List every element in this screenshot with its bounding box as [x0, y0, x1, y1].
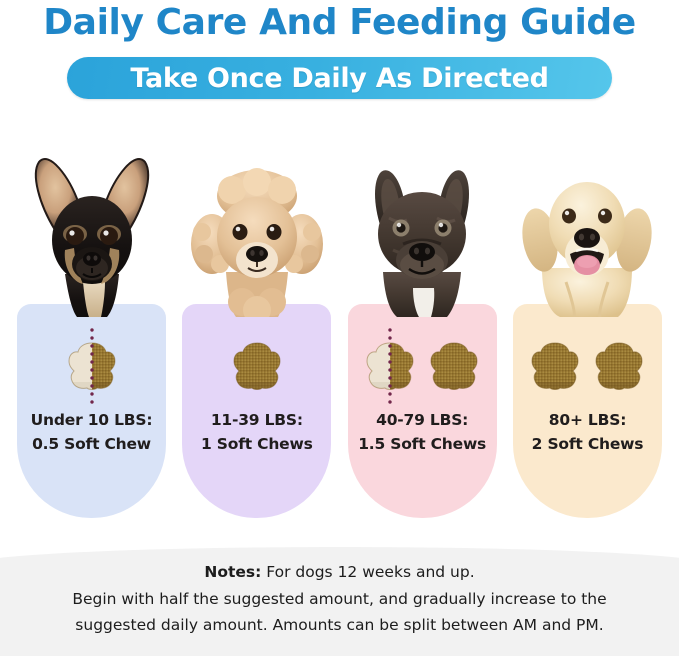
- dosage-column-under-10: Under 10 LBS: 0.5 Soft Chew: [14, 132, 169, 532]
- directions-banner-label: Take Once Daily As Directed: [130, 63, 548, 94]
- feeding-guide-page: Daily Care And Feeding Guide Take Once D…: [0, 0, 679, 656]
- dog-photo-french-bulldog: [345, 132, 500, 317]
- dosage-text: 80+ LBS: 2 Soft Chews: [513, 409, 662, 456]
- weight-range-label: 40-79 LBS:: [348, 409, 497, 433]
- chew-half: [364, 340, 416, 392]
- dosage-text: 11-39 LBS: 1 Soft Chews: [182, 409, 331, 456]
- dose-amount-label: 0.5 Soft Chew: [17, 433, 166, 457]
- dose-amount-label: 1 Soft Chews: [182, 433, 331, 457]
- dosage-text: 40-79 LBS: 1.5 Soft Chews: [348, 409, 497, 456]
- chew-full: [593, 340, 645, 392]
- weight-range-label: Under 10 LBS:: [17, 409, 166, 433]
- notes-label: Notes:: [204, 563, 261, 581]
- weight-range-label: 80+ LBS:: [513, 409, 662, 433]
- split-dotted-line: [388, 326, 392, 406]
- dosage-card-11-39: 11-39 LBS: 1 Soft Chews: [182, 304, 331, 518]
- dog-photo-chihuahua: [14, 132, 169, 317]
- chew-half: [66, 340, 118, 392]
- notes-line-3: suggested daily amount. Amounts can be s…: [0, 612, 679, 639]
- dose-amount-label: 1.5 Soft Chews: [348, 433, 497, 457]
- dosage-column-80-plus: 80+ LBS: 2 Soft Chews: [510, 132, 665, 532]
- page-title: Daily Care And Feeding Guide: [0, 2, 679, 43]
- banner-wrap: Take Once Daily As Directed: [0, 57, 679, 99]
- split-dotted-line: [90, 326, 94, 406]
- dose-amount-label: 2 Soft Chews: [513, 433, 662, 457]
- dosage-card-40-79: 40-79 LBS: 1.5 Soft Chews: [348, 304, 497, 518]
- chew-group: [17, 330, 166, 402]
- dosage-column-40-79: 40-79 LBS: 1.5 Soft Chews: [345, 132, 500, 532]
- chew-full: [231, 340, 283, 392]
- chew-group: [513, 330, 662, 402]
- notes-panel: Notes: For dogs 12 weeks and up. Begin w…: [0, 547, 679, 656]
- chew-group: [182, 330, 331, 402]
- notes-line-1: Notes: For dogs 12 weeks and up.: [0, 559, 679, 586]
- chew-full: [428, 340, 480, 392]
- dosage-columns: Under 10 LBS: 0.5 Soft Chew: [0, 132, 679, 532]
- directions-banner: Take Once Daily As Directed: [67, 57, 612, 99]
- dog-photo-poodle: [179, 132, 334, 317]
- notes-line-2: Begin with half the suggested amount, an…: [0, 586, 679, 613]
- chew-full: [529, 340, 581, 392]
- dosage-card-80-plus: 80+ LBS: 2 Soft Chews: [513, 304, 662, 518]
- chew-group: [348, 330, 497, 402]
- notes-line-1-rest: For dogs 12 weeks and up.: [261, 563, 474, 581]
- dosage-text: Under 10 LBS: 0.5 Soft Chew: [17, 409, 166, 456]
- dosage-card-under-10: Under 10 LBS: 0.5 Soft Chew: [17, 304, 166, 518]
- notes-text: Notes: For dogs 12 weeks and up. Begin w…: [0, 559, 679, 639]
- dog-photo-golden-retriever: [510, 132, 665, 317]
- weight-range-label: 11-39 LBS:: [182, 409, 331, 433]
- dosage-column-11-39: 11-39 LBS: 1 Soft Chews: [179, 132, 334, 532]
